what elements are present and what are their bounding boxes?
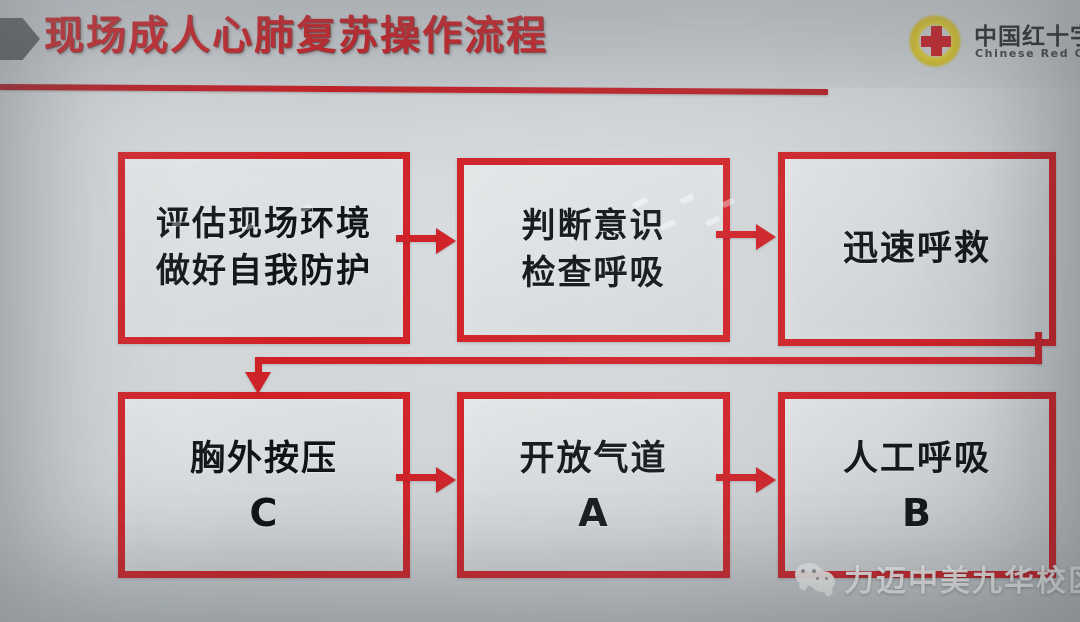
flow-node-rescue-breathing[interactable]: 人工呼吸 B [778, 392, 1056, 578]
flow-node-line: 人工呼吸 [843, 435, 991, 483]
flow-node-letter: A [578, 491, 608, 535]
flow-node-open-airway[interactable]: 开放气道 A [457, 392, 730, 578]
arrow-right-icon [756, 224, 776, 250]
arrow-down-icon [245, 372, 271, 394]
wechat-icon [795, 563, 835, 593]
slide-canvas: 现场成人心肺复苏操作流程 中国红十字 Chinese Red Cro 评估现场环… [0, 0, 1080, 622]
wechat-watermark: 力迈中美九华校区 [795, 556, 1080, 600]
flow-node-assess-scene[interactable]: 评估现场环境 做好自我防护 [118, 152, 410, 344]
flow-node-line: 做好自我防护 [156, 248, 372, 295]
flow-node-line: 评估现场环境 [156, 201, 372, 248]
connector-assess-to-check-line [396, 235, 438, 242]
connector-compression-to-airway-line [396, 474, 438, 481]
flow-node-line: 开放气道 [519, 435, 667, 483]
arrow-right-icon [436, 228, 456, 254]
flow-node-line: 检查呼吸 [522, 250, 666, 297]
cpr-flowchart: 评估现场环境 做好自我防护 判断意识 检查呼吸 迅速呼救 胸外按压 C 开放气道… [0, 0, 1080, 622]
flow-node-chest-compression[interactable]: 胸外按压 C [118, 392, 410, 578]
connector-airway-to-breathing-line [716, 474, 758, 481]
connector-check-to-call-line [716, 231, 758, 238]
arrow-right-icon [756, 467, 776, 493]
flow-node-letter: B [902, 491, 932, 535]
flow-node-check-conscious[interactable]: 判断意识 检查呼吸 [457, 158, 730, 342]
flow-node-line: 胸外按压 [190, 435, 338, 483]
arrow-right-icon [436, 467, 456, 493]
connector-call-to-compression-segment-left [255, 357, 1042, 364]
flow-node-letter: C [250, 491, 279, 535]
watermark-text: 力迈中美九华校区 [844, 556, 1080, 600]
flow-node-line: 判断意识 [522, 203, 666, 250]
flow-node-call-for-help[interactable]: 迅速呼救 [778, 152, 1056, 346]
flow-node-line: 迅速呼救 [843, 225, 991, 273]
